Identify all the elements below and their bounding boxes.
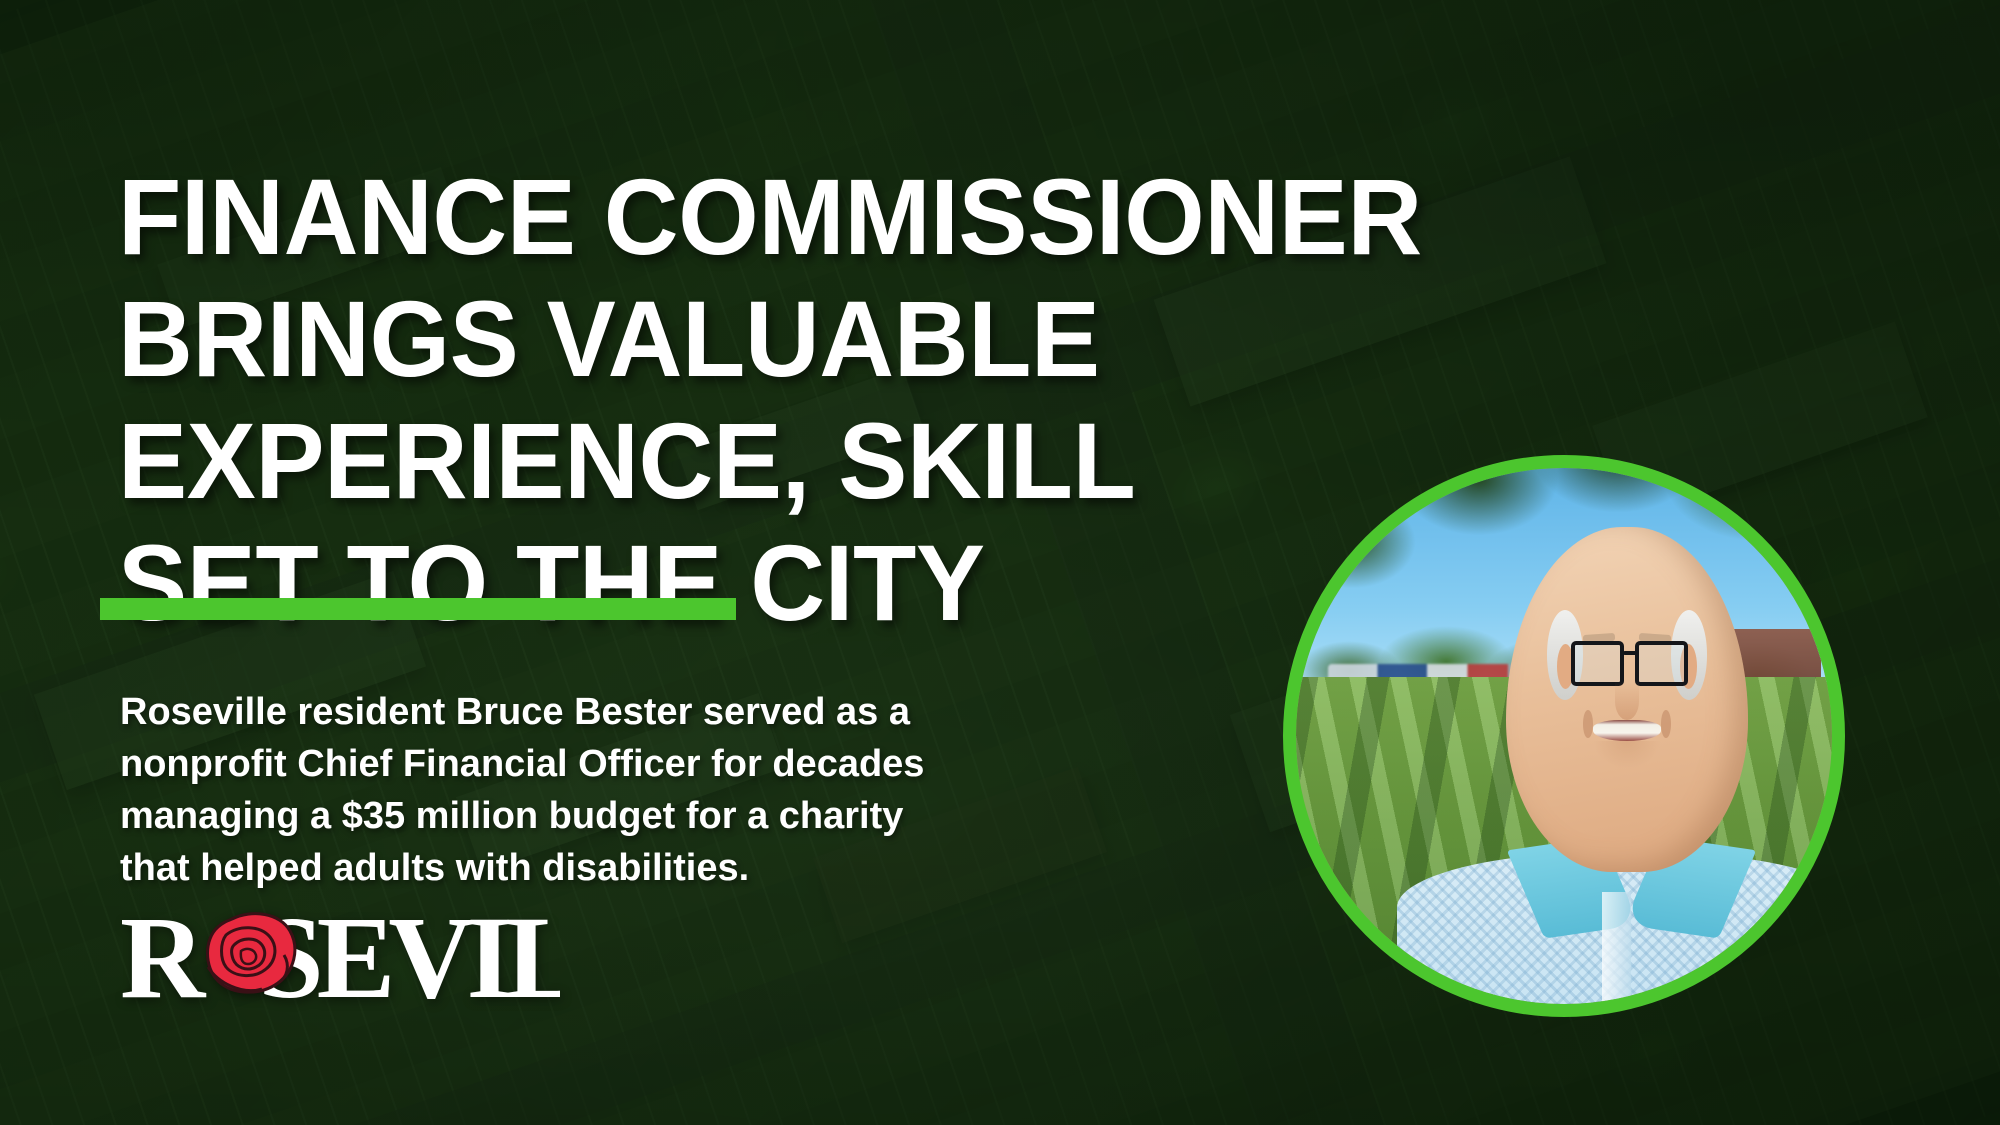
logo-wordmark-tail: SEVILLE [258,893,560,1021]
green-accent-bar [100,598,736,620]
portrait-photo [1296,468,1832,1004]
headline-line-4: SET TO THE CITY [118,522,1366,644]
eyeglasses-icon [1571,641,1687,686]
smile-line-left [1583,710,1593,738]
logo-letter-r: R [120,893,207,1021]
shirt-placket [1602,892,1631,1004]
body-line-2: nonprofit Chief Financial Officer for de… [120,738,880,790]
headline-line-2: BRINGS VALUABLE [118,278,1366,400]
foreground-content: FINANCE COMMISSIONER BRINGS VALUABLE EXP… [0,0,2000,1125]
nose [1615,682,1639,720]
body-line-1: Roseville resident Bruce Bester served a… [120,686,880,738]
roseville-logo: R SEVILLE [120,893,560,1021]
chin [1593,741,1661,769]
head [1506,527,1748,872]
glasses-bridge [1623,651,1637,655]
smile-line-right [1661,710,1671,738]
lens-left [1571,641,1623,686]
body-line-4: that helped adults with disabilities. [120,842,880,894]
lens-right [1635,641,1687,686]
headline-line-1: FINANCE COMMISSIONER [118,156,1366,278]
headline: FINANCE COMMISSIONER BRINGS VALUABLE EXP… [118,156,1366,644]
portrait-bruce-bester [1283,455,1845,1017]
headline-line-3: EXPERIENCE, SKILL [118,400,1366,522]
body-copy: Roseville resident Bruce Bester served a… [120,686,880,894]
portrait-subject [1414,527,1832,1004]
rose-icon [208,914,295,993]
social-graphic-canvas: FINANCE COMMISSIONER BRINGS VALUABLE EXP… [0,0,2000,1125]
body-line-3: managing a $35 million budget for a char… [120,790,880,842]
mouth [1593,720,1661,741]
